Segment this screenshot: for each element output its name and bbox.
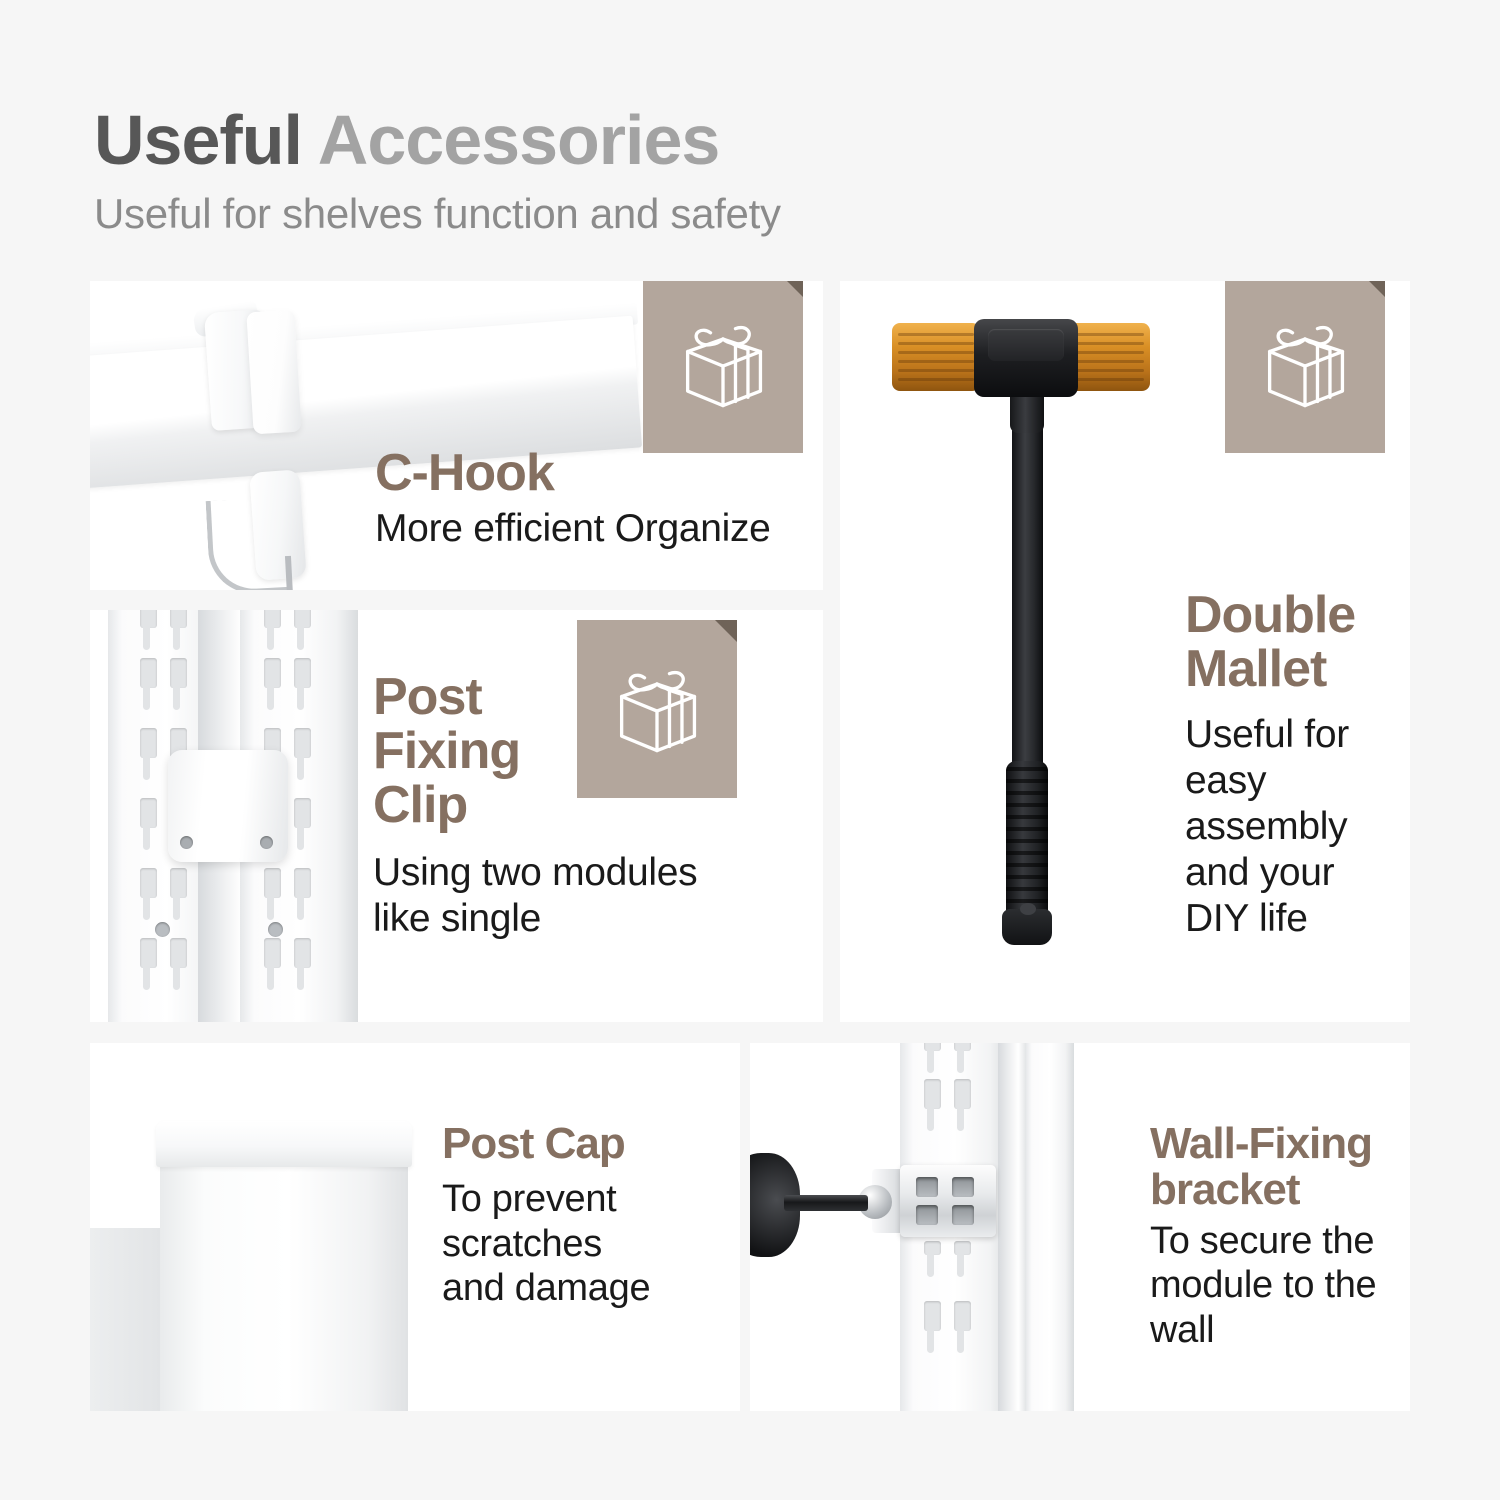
desc-line: scratches [442,1222,650,1267]
post-hole-right [268,922,283,937]
page-subtitle: Useful for shelves function and safety [94,190,1414,238]
double-mallet-photo [890,309,1190,949]
wall-post-secondary [1026,1043,1074,1411]
card-post-cap[interactable]: Post Cap To prevent scratches and damage [90,1043,740,1411]
wall-fixing-bracket-photo [750,1043,1140,1411]
post-fixing-clip-description: Using two modules like single [373,850,697,942]
desc-line: Useful for [1185,712,1410,758]
mallet-handle-hole [1020,903,1036,915]
card-c-hook[interactable]: C-Hook More efficient Organize [90,281,823,590]
heading-line: Wall-Fixing [1150,1121,1410,1167]
header: Useful Accessories Useful for shelves fu… [94,104,1414,238]
desc-line: To prevent [442,1177,650,1222]
screwdriver-bit [784,1195,868,1211]
page-title: Useful Accessories [94,104,1414,178]
heading-line: Double [1185,588,1410,642]
gift-box-icon [605,657,709,761]
badge-fold-corner [715,620,737,642]
badge-fold-corner [1363,281,1385,297]
c-hook-wire [206,497,289,590]
post-cap-photo [90,1043,430,1411]
desc-line: module to the wall [1150,1263,1410,1353]
c-hook-spine [246,310,301,435]
post-fixing-clip-collar [168,750,288,862]
gift-box-icon [671,312,775,416]
desc-line: easy assembly [1185,758,1410,850]
desc-line: To secure the [1150,1219,1410,1264]
card-post-fixing-clip[interactable]: Post Fixing Clip Using two modules like … [90,610,823,1022]
c-hook-text-block: C-Hook More efficient Organize [375,446,771,552]
desc-line: Using two modules [373,850,697,896]
adjacent-post [90,1228,162,1411]
post-hole-left [155,922,170,937]
bracket-hole [952,1205,974,1225]
post-body [160,1163,408,1411]
clip-screw-hole-left [180,836,193,849]
badge-fold-corner [781,281,803,297]
bracket-hole [916,1205,938,1225]
wall-fixing-bracket-heading: Wall-Fixing bracket [1150,1121,1410,1213]
infographic-page: Useful Accessories Useful for shelves fu… [0,0,1500,1500]
post-cap-cover [156,1121,412,1167]
gift-badge-c-hook [643,281,803,453]
desc-line: like single [373,896,697,942]
heading-line: Mallet [1185,642,1410,696]
bracket-hole [952,1177,974,1197]
title-strong: Useful [94,101,302,179]
wall-fixing-bracket-description: To secure the module to the wall [1150,1219,1410,1353]
double-mallet-description: Useful for easy assembly and your DIY li… [1185,712,1410,942]
c-hook-heading: C-Hook [375,446,771,500]
desc-line: and damage [442,1266,650,1311]
title-soft: Accessories [318,101,720,179]
wall-fixing-bracket [900,1165,996,1237]
double-mallet-text-block: Double Mallet Useful for easy assembly a… [1185,588,1410,942]
c-hook-description: More efficient Organize [375,506,771,552]
card-wall-fixing-bracket[interactable]: Wall-Fixing bracket To secure the module… [750,1043,1410,1411]
gift-badge-double-mallet [1225,281,1385,453]
gift-badge-post-fixing-clip [577,620,737,798]
desc-line: DIY life [1185,896,1410,942]
post-fixing-clip-photo [108,610,358,1022]
card-double-mallet[interactable]: Double Mallet Useful for easy assembly a… [840,281,1410,1022]
mallet-shaft [1012,421,1043,781]
bracket-hole [916,1177,938,1197]
gift-box-icon [1253,312,1357,416]
post-cap-text-block: Post Cap To prevent scratches and damage [442,1121,650,1311]
post-cap-description: To prevent scratches and damage [442,1177,650,1311]
double-mallet-heading: Double Mallet [1185,588,1410,696]
heading-line: bracket [1150,1167,1410,1213]
accessory-card-grid: C-Hook More efficient Organize [90,281,1410,1411]
clip-screw-hole-right [260,836,273,849]
mallet-head-plate [988,329,1064,361]
desc-line: and your [1185,850,1410,896]
post-cap-heading: Post Cap [442,1121,650,1167]
wall-fixing-bracket-text-block: Wall-Fixing bracket To secure the module… [1150,1121,1410,1353]
mallet-face-left [892,323,980,391]
